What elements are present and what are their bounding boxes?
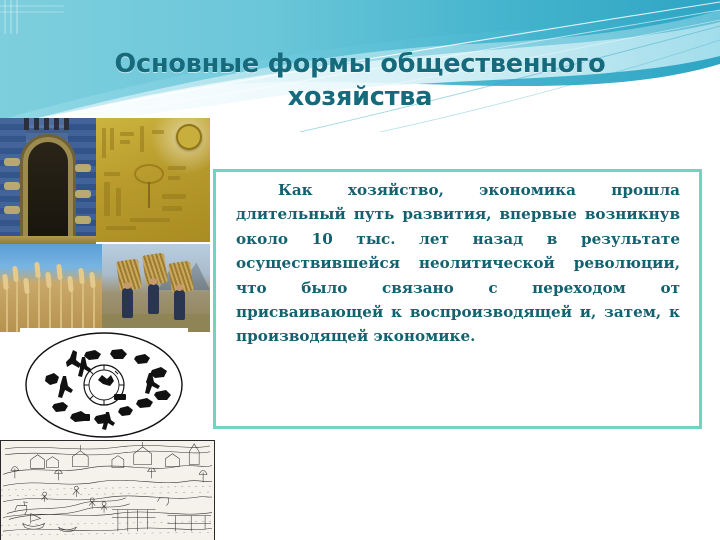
hieroglyph-mark xyxy=(168,176,180,180)
image-collage xyxy=(0,114,218,540)
person-figure xyxy=(174,290,185,320)
reed-bundle-carriers-photo xyxy=(102,244,210,332)
sun-disc-glyph xyxy=(176,124,202,150)
gate-relief-bull xyxy=(4,206,20,214)
hieroglyph-mark xyxy=(102,128,106,158)
person-head xyxy=(176,284,183,291)
hieroglyph-mark xyxy=(162,206,182,211)
hieroglyph-mark xyxy=(152,130,164,134)
shaman-drum-drawing xyxy=(20,328,188,442)
hieroglyph-mark xyxy=(168,166,186,170)
cartouche-glyph xyxy=(134,164,164,184)
hieroglyph-mark xyxy=(140,126,144,152)
presentation-slide: Основные формы общественного хозяйства xyxy=(0,0,720,540)
hieroglyph-mark xyxy=(120,140,130,144)
hieroglyph-mark xyxy=(162,194,186,199)
egyptian-relief-photo xyxy=(96,118,210,242)
hieroglyph-mark xyxy=(120,132,134,136)
ishtar-gate-photo xyxy=(0,118,96,248)
hieroglyph-mark xyxy=(104,172,120,176)
gate-relief-bull xyxy=(4,158,20,166)
hieroglyph-mark xyxy=(130,218,170,222)
gate-relief-bull xyxy=(75,216,91,224)
gate-archway xyxy=(28,142,68,248)
hieroglyph-mark xyxy=(106,226,136,230)
person-head xyxy=(150,278,157,285)
hieroglyph-mark xyxy=(116,188,121,216)
gate-relief-bull xyxy=(4,182,20,190)
gate-relief-bull xyxy=(75,164,91,172)
gate-relief-bull xyxy=(75,190,91,198)
wheat-field-photo xyxy=(0,244,102,332)
body-text: Как хозяйство, экономика прошла длительн… xyxy=(236,178,680,349)
hieroglyph-mark xyxy=(104,182,110,216)
slide-title: Основные формы общественного хозяйства xyxy=(60,48,660,114)
staff-glyph xyxy=(148,182,150,208)
hieroglyph-mark xyxy=(110,128,114,150)
gate-crenellation xyxy=(24,118,72,130)
person-figure xyxy=(122,288,133,318)
medieval-woodcut-engraving xyxy=(0,440,215,540)
gate-right-pylon xyxy=(68,118,96,248)
person-head xyxy=(124,282,131,289)
person-figure xyxy=(148,284,159,314)
